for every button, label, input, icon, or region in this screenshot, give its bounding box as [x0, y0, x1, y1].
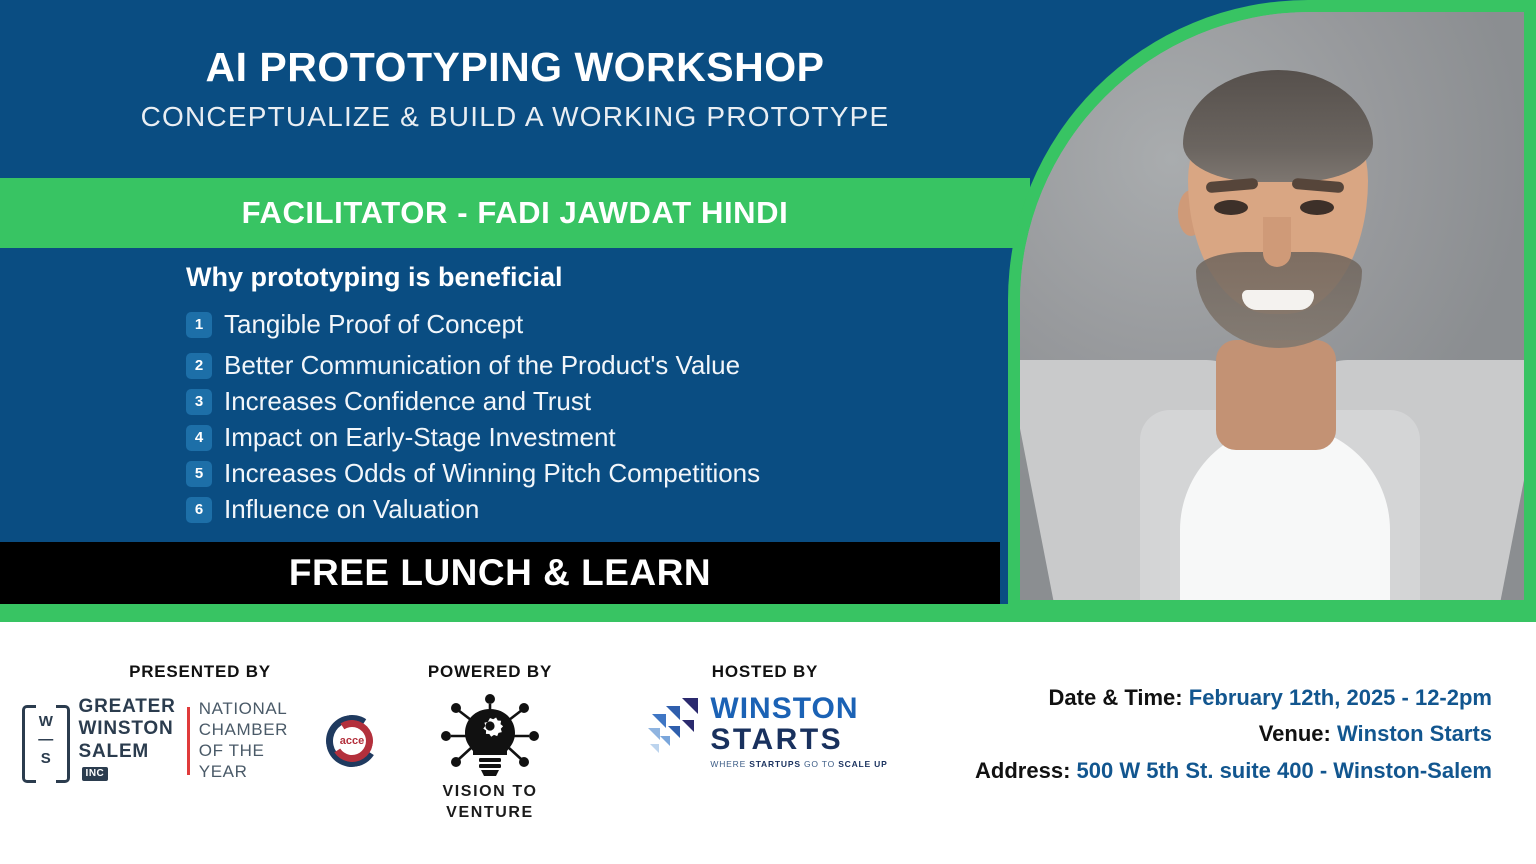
- benefit-number-badge: 3: [186, 389, 212, 415]
- lightbulb-gear-network-icon: [438, 692, 542, 778]
- presented-by-caption: PRESENTED BY: [22, 662, 378, 682]
- detail-address: Address: 500 W 5th St. suite 400 - Winst…: [975, 753, 1492, 789]
- detail-date-time: Date & Time: February 12th, 2025 - 12-2p…: [975, 680, 1492, 716]
- benefit-item-1: 1 Tangible Proof of Concept: [186, 309, 1000, 340]
- acce-logo-icon: acce: [326, 715, 378, 767]
- winston-starts-logo: WINSTON STARTS WHERE STARTUPS GO TO SCAL…: [640, 694, 890, 769]
- detail-label: Date & Time:: [1049, 685, 1183, 710]
- free-lunch-text: FREE LUNCH & LEARN: [289, 552, 711, 594]
- benefits-panel: Why prototyping is beneficial 1 Tangible…: [0, 248, 1000, 542]
- benefit-label: Better Communication of the Product's Va…: [224, 350, 740, 381]
- detail-label: Address:: [975, 758, 1070, 783]
- ws-line-winston: WINSTON: [710, 694, 887, 724]
- logo-divider: [187, 707, 190, 775]
- benefit-number-badge: 2: [186, 353, 212, 379]
- facilitator-photo: [1020, 12, 1524, 600]
- national-chamber-of-the-year-wordmark: NATIONAL CHAMBER OF THE YEAR: [199, 699, 317, 782]
- detail-venue: Venue: Winston Starts: [975, 716, 1492, 752]
- gws-line-3: SALEMINC: [79, 741, 178, 786]
- benefit-item-6: 6 Influence on Valuation: [186, 494, 1000, 525]
- benefit-label: Increases Odds of Winning Pitch Competit…: [224, 458, 760, 489]
- monogram-s: S: [41, 750, 51, 769]
- powered-by-column: POWERED BY: [400, 662, 580, 824]
- benefit-label: Tangible Proof of Concept: [224, 309, 523, 340]
- greater-winston-salem-wordmark: GREATER WINSTON SALEMINC: [79, 696, 178, 786]
- ncy-line-1: NATIONAL: [199, 699, 317, 720]
- gws-line-2: WINSTON: [79, 718, 178, 740]
- winston-starts-triangles-icon: [642, 696, 704, 758]
- facilitator-name: FACILITATOR - FADI JAWDAT HINDI: [242, 195, 789, 231]
- hosted-by-column: HOSTED BY: [640, 662, 890, 769]
- event-details: Date & Time: February 12th, 2025 - 12-2p…: [975, 680, 1492, 789]
- page-subtitle: CONCEPTUALIZE & BUILD A WORKING PROTOTYP…: [141, 101, 890, 133]
- detail-value: Winston Starts: [1337, 721, 1492, 746]
- inc-tag: INC: [82, 767, 109, 781]
- benefit-number-badge: 5: [186, 461, 212, 487]
- benefit-label: Increases Confidence and Trust: [224, 386, 591, 417]
- powered-by-caption: POWERED BY: [400, 662, 580, 682]
- benefit-item-3: 3 Increases Confidence and Trust: [186, 386, 1000, 417]
- benefit-number-badge: 6: [186, 497, 212, 523]
- ncy-line-3: OF THE YEAR: [199, 741, 317, 782]
- detail-label: Venue:: [1259, 721, 1331, 746]
- v2v-line-1: VISION TO: [400, 782, 580, 803]
- ws-monogram-icon: W — S: [22, 705, 70, 777]
- v2v-line-2: VENTURE: [400, 803, 580, 824]
- photo-frame: [1008, 0, 1536, 622]
- greater-winston-salem-logo: W — S GREATER WINSTON SALEMINC NATIONAL …: [22, 696, 378, 786]
- ws-line-starts: STARTS: [710, 724, 887, 756]
- detail-value: 500 W 5th St. suite 400 - Winston-Salem: [1077, 758, 1492, 783]
- winston-starts-tagline: WHERE STARTUPS GO TO SCALE UP: [710, 759, 887, 769]
- benefit-number-badge: 4: [186, 425, 212, 451]
- winston-starts-wordmark: WINSTON STARTS WHERE STARTUPS GO TO SCAL…: [710, 694, 887, 769]
- gws-line-1: GREATER: [79, 696, 178, 718]
- benefit-label: Impact on Early-Stage Investment: [224, 422, 616, 453]
- footer: PRESENTED BY W — S GREATER WINSTON SALEM…: [0, 622, 1536, 864]
- ncy-line-2: CHAMBER: [199, 720, 317, 741]
- title-block: AI PROTOTYPING WORKSHOP CONCEPTUALIZE & …: [0, 0, 1030, 178]
- monogram-w: W: [39, 713, 53, 732]
- benefit-number-badge: 1: [186, 312, 212, 338]
- page-title: AI PROTOTYPING WORKSHOP: [206, 45, 825, 90]
- eye-right: [1300, 200, 1334, 215]
- flyer-canvas: AI PROTOTYPING WORKSHOP CONCEPTUALIZE & …: [0, 0, 1536, 864]
- hosted-by-caption: HOSTED BY: [640, 662, 890, 682]
- top-navy-area: AI PROTOTYPING WORKSHOP CONCEPTUALIZE & …: [0, 0, 1536, 622]
- facilitator-band: FACILITATOR - FADI JAWDAT HINDI: [0, 178, 1030, 248]
- benefit-label: Influence on Valuation: [224, 494, 479, 525]
- detail-value: February 12th, 2025 - 12-2pm: [1189, 685, 1492, 710]
- eye-left: [1214, 200, 1248, 215]
- free-lunch-banner: FREE LUNCH & LEARN: [0, 542, 1000, 604]
- benefit-item-2: 2 Better Communication of the Product's …: [186, 350, 1000, 381]
- monogram-dash: —: [38, 731, 53, 750]
- green-bottom-strip: [0, 604, 1030, 622]
- nose: [1263, 217, 1291, 267]
- benefit-item-4: 4 Impact on Early-Stage Investment: [186, 422, 1000, 453]
- neck: [1216, 340, 1336, 450]
- benefits-heading: Why prototyping is beneficial: [186, 262, 1000, 293]
- benefit-item-5: 5 Increases Odds of Winning Pitch Compet…: [186, 458, 1000, 489]
- mouth: [1242, 290, 1314, 310]
- vision-to-venture-wordmark: VISION TO VENTURE: [400, 782, 580, 824]
- presented-by-column: PRESENTED BY W — S GREATER WINSTON SALEM…: [22, 662, 378, 786]
- acce-label: acce: [326, 715, 378, 767]
